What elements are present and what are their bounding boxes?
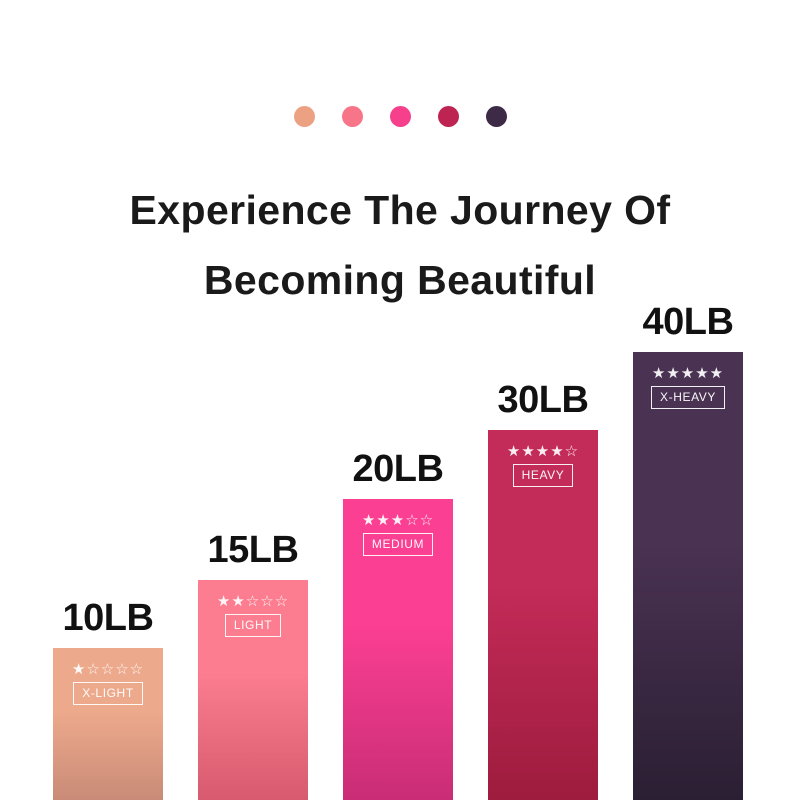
- bar-group-light[interactable]: 15LB★★☆☆☆LIGHT: [198, 580, 308, 800]
- bar-weight-label: 20LB: [353, 448, 444, 491]
- bar-fill: ★★★★☆HEAVY: [488, 430, 598, 800]
- star-rating-icon: ★★☆☆☆: [217, 594, 289, 609]
- bar-fill: ★★★☆☆MEDIUM: [343, 499, 453, 800]
- bar-group-medium[interactable]: 20LB★★★☆☆MEDIUM: [343, 499, 453, 800]
- tier-label: LIGHT: [225, 614, 281, 637]
- bar-group-x-heavy[interactable]: 40LB★★★★★X-HEAVY: [633, 352, 743, 800]
- bar-badge: ★★☆☆☆LIGHT: [198, 594, 308, 637]
- star-rating-icon: ★★★★☆: [507, 444, 579, 459]
- star-rating-icon: ★★★☆☆: [362, 513, 434, 528]
- bar-badge: ★★★★☆HEAVY: [488, 444, 598, 487]
- bar-weight-label: 30LB: [498, 379, 589, 422]
- bar-weight-label: 15LB: [208, 529, 299, 572]
- resistance-band-bar-chart: 10LB★☆☆☆☆X-LIGHT15LB★★☆☆☆LIGHT20LB★★★☆☆M…: [0, 0, 800, 800]
- tier-label: HEAVY: [513, 464, 574, 487]
- bar-badge: ★★★★★X-HEAVY: [633, 366, 743, 409]
- bar-weight-label: 40LB: [643, 301, 734, 344]
- tier-label: X-HEAVY: [651, 386, 725, 409]
- star-rating-icon: ★★★★★: [652, 366, 724, 381]
- bar-group-x-light[interactable]: 10LB★☆☆☆☆X-LIGHT: [53, 648, 163, 800]
- bar-weight-label: 10LB: [63, 597, 154, 640]
- bar-badge: ★★★☆☆MEDIUM: [343, 513, 453, 556]
- bar-group-heavy[interactable]: 30LB★★★★☆HEAVY: [488, 430, 598, 800]
- bar-fill: ★☆☆☆☆X-LIGHT: [53, 648, 163, 800]
- bar-fill: ★★☆☆☆LIGHT: [198, 580, 308, 800]
- bar-fill: ★★★★★X-HEAVY: [633, 352, 743, 800]
- star-rating-icon: ★☆☆☆☆: [72, 662, 144, 677]
- tier-label: X-LIGHT: [73, 682, 143, 705]
- tier-label: MEDIUM: [363, 533, 433, 556]
- bar-badge: ★☆☆☆☆X-LIGHT: [53, 662, 163, 705]
